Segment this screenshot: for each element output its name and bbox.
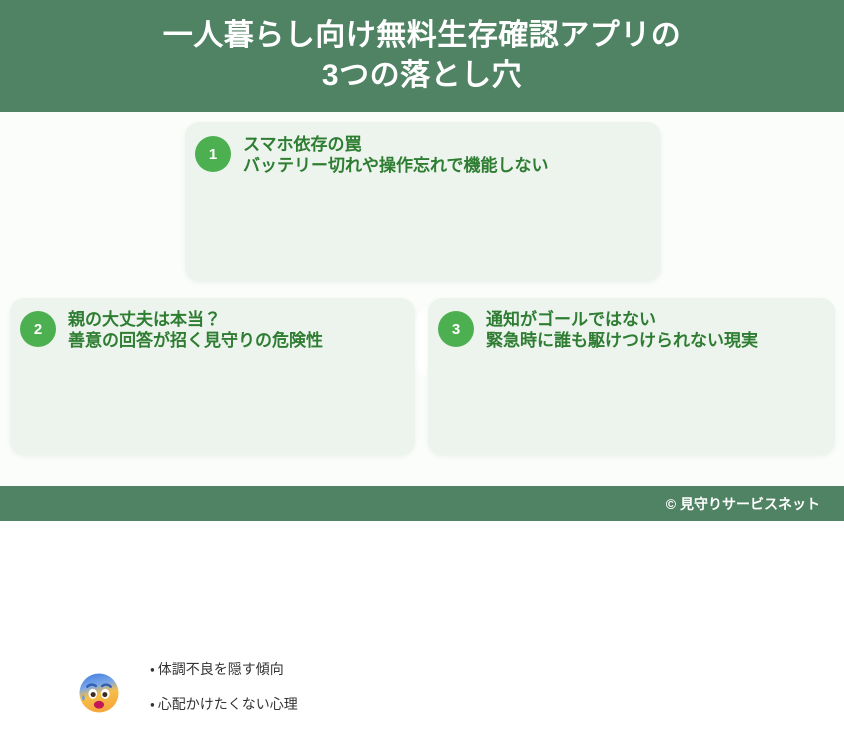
- header-band: 一人暮らし向け無料生存確認アプリの 3つの落とし穴: [0, 0, 844, 112]
- pitfall-card-3: 3 通知がゴールではない 緊急時に誰も駆けつけられない現実: [428, 298, 835, 455]
- card-2-bullet-list: ・体調不良を隠す傾向 ・心配かけたくない心理: [150, 661, 298, 713]
- pitfall-card-2: 2 親の大丈夫は本当？ 善意の回答が招く見守りの危険性: [10, 298, 415, 455]
- card-3-title-line-2: 緊急時に誰も駆けつけられない現実: [486, 330, 758, 351]
- card-2-title-line-1: 親の大丈夫は本当？: [68, 309, 323, 330]
- bullet-marker-icon: ・: [150, 661, 155, 677]
- footer-credit: © 見守りサービスネット: [666, 494, 820, 514]
- footer-band: © 見守りサービスネット: [0, 486, 844, 521]
- card-2-number-badge: 2: [20, 311, 56, 347]
- infographic-poster: 一人暮らし向け無料生存確認アプリの 3つの落とし穴 1 スマホ依存の罠 バッテリ…: [0, 0, 844, 521]
- card-2-bullet-2-text: 心配かけたくない心理: [158, 696, 298, 712]
- bullet-marker-icon: ・: [150, 696, 155, 712]
- card-3-header: 3 通知がゴールではない 緊急時に誰も駆けつけられない現実: [438, 309, 758, 352]
- card-2-header: 2 親の大丈夫は本当？ 善意の回答が招く見守りの危険性: [20, 309, 323, 352]
- card-1-title-line-1: スマホ依存の罠: [243, 134, 549, 155]
- anxious-face-icon: [57, 651, 141, 735]
- header-title-line-1: 一人暮らし向け無料生存確認アプリの: [163, 16, 682, 56]
- card-2-bullet-2: ・心配かけたくない心理: [150, 696, 298, 713]
- pitfall-card-1: 1 スマホ依存の罠 バッテリー切れや操作忘れで機能しない ・バッテリー切れのリス…: [185, 122, 661, 281]
- card-1-number-badge: 1: [195, 136, 231, 172]
- card-1-title-line-2: バッテリー切れや操作忘れで機能しない: [243, 155, 549, 176]
- card-2-title-line-2: 善意の回答が招く見守りの危険性: [68, 330, 323, 351]
- header-title-line-2: 3つの落とし穴: [322, 56, 522, 96]
- card-1-titles: スマホ依存の罠 バッテリー切れや操作忘れで機能しない: [243, 134, 549, 177]
- card-3-number-badge: 3: [438, 311, 474, 347]
- card-1-header: 1 スマホ依存の罠 バッテリー切れや操作忘れで機能しない: [195, 134, 549, 177]
- card-2-titles: 親の大丈夫は本当？ 善意の回答が招く見守りの危険性: [68, 309, 323, 352]
- card-2-bullet-1: ・体調不良を隠す傾向: [150, 661, 298, 678]
- card-3-titles: 通知がゴールではない 緊急時に誰も駆けつけられない現実: [486, 309, 758, 352]
- card-3-title-line-1: 通知がゴールではない: [486, 309, 758, 330]
- card-2-bullet-1-text: 体調不良を隠す傾向: [158, 661, 284, 677]
